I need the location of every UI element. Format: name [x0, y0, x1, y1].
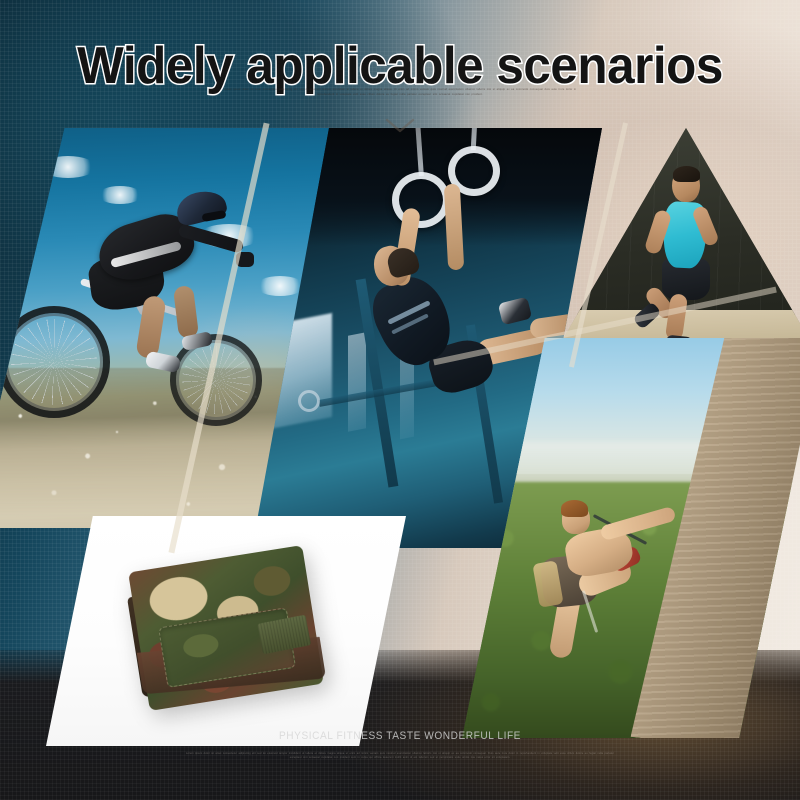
header-filler-text: Lorem ipsum dolor sit amet consectetur a… — [215, 88, 585, 97]
cloud-shape — [256, 276, 304, 296]
footer-filler-text: Lorem ipsum dolor sit amet consectetur a… — [180, 752, 620, 761]
banner-footer: PHYSICAL FITNESS TASTE WONDERFUL LIFE Lo… — [0, 700, 800, 800]
background-ring — [298, 390, 320, 412]
page-title: Widely applicable scenarios — [20, 36, 780, 96]
bicycle-rear-wheel — [0, 306, 110, 418]
chevron-down-icon — [385, 118, 415, 134]
banner-header: Widely applicable scenarios Lorem ipsum … — [0, 0, 800, 150]
gymnast-shoe — [498, 297, 532, 326]
climber-hair — [561, 500, 588, 517]
footer-tagline: PHYSICAL FITNESS TASTE WONDERFUL LIFE — [32, 730, 768, 742]
cloud-shape — [40, 156, 96, 178]
gym-window — [348, 332, 366, 431]
wheel-spokes — [11, 319, 97, 405]
scenario-collage — [0, 128, 800, 748]
runner-hair — [673, 166, 700, 182]
cloud-shape — [98, 186, 142, 204]
promo-banner: Widely applicable scenarios Lorem ipsum … — [0, 0, 800, 800]
camouflage-pouch-product — [128, 545, 324, 711]
cyclist-leg — [173, 285, 199, 339]
gymnastic-ring — [392, 172, 450, 228]
cyclist-helmet — [173, 186, 229, 227]
